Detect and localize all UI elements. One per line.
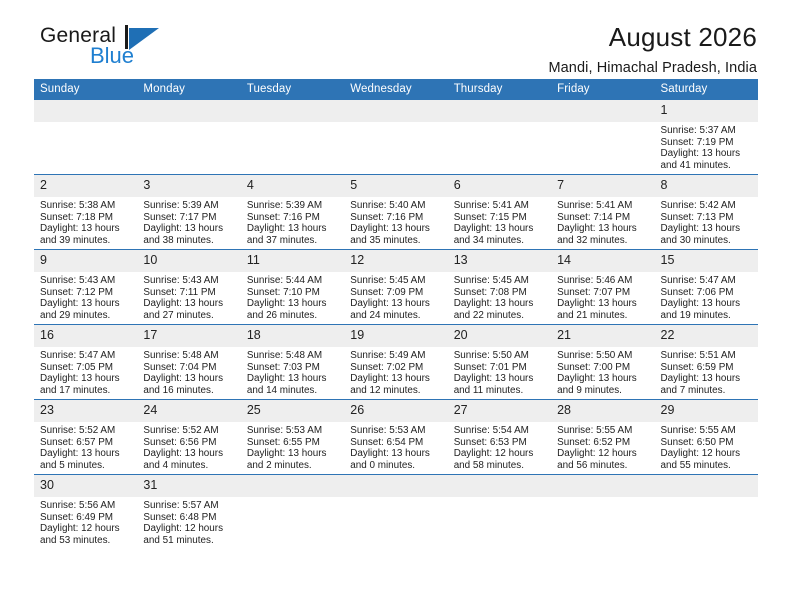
sunrise-time: Sunrise: 5:45 AM [350,275,442,287]
calendar-day-cell-empty [241,100,344,175]
daylight-line-2: and 11 minutes. [454,385,546,397]
daylight-line-2: and 53 minutes. [40,535,132,547]
day-number [344,475,447,497]
daylight-line-2: and 55 minutes. [661,460,753,472]
daylight-line-1: Daylight: 12 hours [557,448,649,460]
calendar-week-row: 23Sunrise: 5:52 AMSunset: 6:57 PMDayligh… [34,400,758,475]
day-details: Sunrise: 5:46 AMSunset: 7:07 PMDaylight:… [551,272,654,321]
sunset-time: Sunset: 7:08 PM [454,287,546,299]
calendar-day-cell-empty [344,100,447,175]
day-number [655,475,758,497]
logo-text-blue: Blue [90,43,134,69]
sunrise-time: Sunrise: 5:42 AM [661,200,753,212]
page-title: August 2026 [548,22,757,52]
day-details: Sunrise: 5:51 AMSunset: 6:59 PMDaylight:… [655,347,758,396]
daylight-line-1: Daylight: 12 hours [143,523,235,535]
sunset-time: Sunset: 7:13 PM [661,212,753,224]
day-number: 19 [344,325,447,347]
calendar-day-cell[interactable]: 14Sunrise: 5:46 AMSunset: 7:07 PMDayligh… [551,250,654,325]
day-number [344,100,447,122]
daylight-line-1: Daylight: 13 hours [350,223,442,235]
day-details: Sunrise: 5:50 AMSunset: 7:01 PMDaylight:… [448,347,551,396]
daylight-line-2: and 37 minutes. [247,235,339,247]
day-details: Sunrise: 5:52 AMSunset: 6:56 PMDaylight:… [137,422,240,471]
sunrise-time: Sunrise: 5:54 AM [454,425,546,437]
day-number [34,100,137,122]
daylight-line-1: Daylight: 13 hours [40,448,132,460]
calendar-week-row: 30Sunrise: 5:56 AMSunset: 6:49 PMDayligh… [34,475,758,550]
sunset-time: Sunset: 7:07 PM [557,287,649,299]
day-number [241,100,344,122]
calendar-day-cell-empty [344,475,447,550]
daylight-line-1: Daylight: 13 hours [557,298,649,310]
calendar-day-cell[interactable]: 8Sunrise: 5:42 AMSunset: 7:13 PMDaylight… [655,175,758,250]
sunrise-time: Sunrise: 5:44 AM [247,275,339,287]
calendar-day-cell[interactable]: 24Sunrise: 5:52 AMSunset: 6:56 PMDayligh… [137,400,240,475]
daylight-line-1: Daylight: 13 hours [40,223,132,235]
daylight-line-1: Daylight: 13 hours [40,298,132,310]
daylight-line-2: and 7 minutes. [661,385,753,397]
daylight-line-2: and 12 minutes. [350,385,442,397]
daylight-line-2: and 21 minutes. [557,310,649,322]
daylight-line-2: and 35 minutes. [350,235,442,247]
daylight-line-1: Daylight: 13 hours [661,373,753,385]
daylight-line-2: and 38 minutes. [143,235,235,247]
calendar-day-cell[interactable]: 6Sunrise: 5:41 AMSunset: 7:15 PMDaylight… [448,175,551,250]
sunrise-time: Sunrise: 5:55 AM [557,425,649,437]
daylight-line-2: and 22 minutes. [454,310,546,322]
day-details: Sunrise: 5:42 AMSunset: 7:13 PMDaylight:… [655,197,758,246]
weekday-header-thursday: Thursday [448,79,551,100]
day-details: Sunrise: 5:54 AMSunset: 6:53 PMDaylight:… [448,422,551,471]
sunset-time: Sunset: 7:05 PM [40,362,132,374]
sunset-time: Sunset: 6:49 PM [40,512,132,524]
sunset-time: Sunset: 7:14 PM [557,212,649,224]
day-number [448,475,551,497]
daylight-line-2: and 4 minutes. [143,460,235,472]
weekday-header-sunday: Sunday [34,79,137,100]
daylight-line-2: and 39 minutes. [40,235,132,247]
sunset-time: Sunset: 7:16 PM [350,212,442,224]
calendar-day-cell[interactable]: 10Sunrise: 5:43 AMSunset: 7:11 PMDayligh… [137,250,240,325]
day-number: 20 [448,325,551,347]
page-subtitle: Mandi, Himachal Pradesh, India [548,58,757,78]
day-number: 30 [34,475,137,497]
day-number: 29 [655,400,758,422]
day-details: Sunrise: 5:48 AMSunset: 7:03 PMDaylight:… [241,347,344,396]
sunrise-time: Sunrise: 5:41 AM [454,200,546,212]
day-number: 21 [551,325,654,347]
daylight-line-1: Daylight: 13 hours [247,298,339,310]
day-number: 17 [137,325,240,347]
day-details: Sunrise: 5:45 AMSunset: 7:09 PMDaylight:… [344,272,447,321]
sunset-time: Sunset: 7:15 PM [454,212,546,224]
daylight-line-1: Daylight: 13 hours [143,223,235,235]
day-number [551,100,654,122]
calendar-day-cell-empty [137,100,240,175]
day-number: 2 [34,175,137,197]
day-number: 22 [655,325,758,347]
day-details: Sunrise: 5:48 AMSunset: 7:04 PMDaylight:… [137,347,240,396]
daylight-line-1: Daylight: 13 hours [557,223,649,235]
calendar-day-cell[interactable]: 12Sunrise: 5:45 AMSunset: 7:09 PMDayligh… [344,250,447,325]
sunset-time: Sunset: 6:54 PM [350,437,442,449]
sunrise-time: Sunrise: 5:40 AM [350,200,442,212]
daylight-line-1: Daylight: 13 hours [557,373,649,385]
calendar-day-cell[interactable]: 18Sunrise: 5:48 AMSunset: 7:03 PMDayligh… [241,325,344,400]
calendar-day-cell[interactable]: 22Sunrise: 5:51 AMSunset: 6:59 PMDayligh… [655,325,758,400]
day-number [137,100,240,122]
sunset-time: Sunset: 7:10 PM [247,287,339,299]
sunrise-time: Sunrise: 5:49 AM [350,350,442,362]
sunset-time: Sunset: 7:03 PM [247,362,339,374]
calendar-day-cell[interactable]: 4Sunrise: 5:39 AMSunset: 7:16 PMDaylight… [241,175,344,250]
weekday-header-friday: Friday [551,79,654,100]
day-details: Sunrise: 5:52 AMSunset: 6:57 PMDaylight:… [34,422,137,471]
daylight-line-1: Daylight: 13 hours [143,373,235,385]
sunset-time: Sunset: 6:50 PM [661,437,753,449]
day-details: Sunrise: 5:44 AMSunset: 7:10 PMDaylight:… [241,272,344,321]
sunset-time: Sunset: 7:16 PM [247,212,339,224]
day-details: Sunrise: 5:43 AMSunset: 7:12 PMDaylight:… [34,272,137,321]
daylight-line-2: and 2 minutes. [247,460,339,472]
day-number: 18 [241,325,344,347]
calendar-day-cell[interactable]: 27Sunrise: 5:54 AMSunset: 6:53 PMDayligh… [448,400,551,475]
sunset-time: Sunset: 6:55 PM [247,437,339,449]
daylight-line-2: and 24 minutes. [350,310,442,322]
day-details: Sunrise: 5:39 AMSunset: 7:16 PMDaylight:… [241,197,344,246]
day-number: 15 [655,250,758,272]
daylight-line-2: and 5 minutes. [40,460,132,472]
day-number [241,475,344,497]
sunset-time: Sunset: 7:00 PM [557,362,649,374]
sunset-time: Sunset: 7:02 PM [350,362,442,374]
sunrise-time: Sunrise: 5:41 AM [557,200,649,212]
sunrise-time: Sunrise: 5:37 AM [661,125,753,137]
day-details: Sunrise: 5:56 AMSunset: 6:49 PMDaylight:… [34,497,137,546]
calendar-day-cell[interactable]: 29Sunrise: 5:55 AMSunset: 6:50 PMDayligh… [655,400,758,475]
day-number: 6 [448,175,551,197]
calendar-day-cell[interactable]: 13Sunrise: 5:45 AMSunset: 7:08 PMDayligh… [448,250,551,325]
daylight-line-1: Daylight: 13 hours [143,448,235,460]
calendar-week-row: 2Sunrise: 5:38 AMSunset: 7:18 PMDaylight… [34,175,758,250]
day-details: Sunrise: 5:49 AMSunset: 7:02 PMDaylight:… [344,347,447,396]
sunrise-time: Sunrise: 5:46 AM [557,275,649,287]
sunset-time: Sunset: 7:04 PM [143,362,235,374]
day-number: 10 [137,250,240,272]
daylight-line-2: and 27 minutes. [143,310,235,322]
calendar-day-cell[interactable]: 15Sunrise: 5:47 AMSunset: 7:06 PMDayligh… [655,250,758,325]
sunrise-time: Sunrise: 5:50 AM [557,350,649,362]
daylight-line-2: and 32 minutes. [557,235,649,247]
day-number: 31 [137,475,240,497]
daylight-line-1: Daylight: 13 hours [247,373,339,385]
daylight-line-1: Daylight: 13 hours [247,448,339,460]
daylight-line-1: Daylight: 12 hours [454,448,546,460]
daylight-line-1: Daylight: 13 hours [247,223,339,235]
sunrise-time: Sunrise: 5:39 AM [247,200,339,212]
calendar-day-cell[interactable]: 5Sunrise: 5:40 AMSunset: 7:16 PMDaylight… [344,175,447,250]
day-number: 26 [344,400,447,422]
sunset-time: Sunset: 6:57 PM [40,437,132,449]
daylight-line-2: and 9 minutes. [557,385,649,397]
sunrise-time: Sunrise: 5:48 AM [143,350,235,362]
day-number: 12 [344,250,447,272]
day-number: 25 [241,400,344,422]
calendar-week-row: 9Sunrise: 5:43 AMSunset: 7:12 PMDaylight… [34,250,758,325]
calendar-day-cell[interactable]: 2Sunrise: 5:38 AMSunset: 7:18 PMDaylight… [34,175,137,250]
sunrise-time: Sunrise: 5:39 AM [143,200,235,212]
calendar-day-cell[interactable]: 25Sunrise: 5:53 AMSunset: 6:55 PMDayligh… [241,400,344,475]
daylight-line-2: and 29 minutes. [40,310,132,322]
calendar-table: Sunday Monday Tuesday Wednesday Thursday… [34,79,758,549]
daylight-line-2: and 14 minutes. [247,385,339,397]
daylight-line-1: Daylight: 13 hours [40,373,132,385]
day-number [448,100,551,122]
weekday-header-monday: Monday [137,79,240,100]
sunset-time: Sunset: 6:59 PM [661,362,753,374]
sunrise-time: Sunrise: 5:38 AM [40,200,132,212]
sunrise-time: Sunrise: 5:53 AM [247,425,339,437]
sunset-time: Sunset: 7:11 PM [143,287,235,299]
day-number: 16 [34,325,137,347]
sunrise-time: Sunrise: 5:45 AM [454,275,546,287]
daylight-line-1: Daylight: 13 hours [454,298,546,310]
daylight-line-1: Daylight: 13 hours [454,373,546,385]
day-number: 9 [34,250,137,272]
daylight-line-2: and 16 minutes. [143,385,235,397]
daylight-line-1: Daylight: 13 hours [661,298,753,310]
daylight-line-1: Daylight: 13 hours [454,223,546,235]
daylight-line-1: Daylight: 13 hours [143,298,235,310]
daylight-line-2: and 51 minutes. [143,535,235,547]
day-details: Sunrise: 5:53 AMSunset: 6:54 PMDaylight:… [344,422,447,471]
day-details: Sunrise: 5:55 AMSunset: 6:50 PMDaylight:… [655,422,758,471]
day-details: Sunrise: 5:39 AMSunset: 7:17 PMDaylight:… [137,197,240,246]
calendar-day-cell[interactable]: 17Sunrise: 5:48 AMSunset: 7:04 PMDayligh… [137,325,240,400]
daylight-line-2: and 19 minutes. [661,310,753,322]
day-number: 8 [655,175,758,197]
day-details: Sunrise: 5:57 AMSunset: 6:48 PMDaylight:… [137,497,240,546]
page-header: General Blue August 2026 Mandi, Himachal… [34,0,758,74]
sunrise-time: Sunrise: 5:51 AM [661,350,753,362]
day-number [551,475,654,497]
day-details: Sunrise: 5:41 AMSunset: 7:14 PMDaylight:… [551,197,654,246]
general-blue-logo[interactable]: General Blue [34,22,214,74]
day-details: Sunrise: 5:43 AMSunset: 7:11 PMDaylight:… [137,272,240,321]
calendar-day-cell[interactable]: 11Sunrise: 5:44 AMSunset: 7:10 PMDayligh… [241,250,344,325]
day-details: Sunrise: 5:47 AMSunset: 7:05 PMDaylight:… [34,347,137,396]
calendar-day-cell-empty [241,475,344,550]
sunset-time: Sunset: 7:01 PM [454,362,546,374]
day-details: Sunrise: 5:41 AMSunset: 7:15 PMDaylight:… [448,197,551,246]
sunrise-time: Sunrise: 5:52 AM [40,425,132,437]
calendar-day-cell[interactable]: 23Sunrise: 5:52 AMSunset: 6:57 PMDayligh… [34,400,137,475]
sunset-time: Sunset: 6:53 PM [454,437,546,449]
calendar-day-cell[interactable]: 3Sunrise: 5:39 AMSunset: 7:17 PMDaylight… [137,175,240,250]
day-number: 14 [551,250,654,272]
daylight-line-2: and 30 minutes. [661,235,753,247]
calendar-day-cell[interactable]: 9Sunrise: 5:43 AMSunset: 7:12 PMDaylight… [34,250,137,325]
daylight-line-2: and 17 minutes. [40,385,132,397]
day-number: 11 [241,250,344,272]
calendar-day-cell[interactable]: 31Sunrise: 5:57 AMSunset: 6:48 PMDayligh… [137,475,240,550]
day-details: Sunrise: 5:50 AMSunset: 7:00 PMDaylight:… [551,347,654,396]
day-number: 28 [551,400,654,422]
calendar-week-row: 16Sunrise: 5:47 AMSunset: 7:05 PMDayligh… [34,325,758,400]
title-block: August 2026 Mandi, Himachal Pradesh, Ind… [548,22,758,78]
sunrise-time: Sunrise: 5:43 AM [40,275,132,287]
daylight-line-1: Daylight: 12 hours [40,523,132,535]
sunset-time: Sunset: 7:18 PM [40,212,132,224]
calendar-day-cell[interactable]: 28Sunrise: 5:55 AMSunset: 6:52 PMDayligh… [551,400,654,475]
day-details: Sunrise: 5:38 AMSunset: 7:18 PMDaylight:… [34,197,137,246]
daylight-line-1: Daylight: 12 hours [661,448,753,460]
calendar-day-cell[interactable]: 7Sunrise: 5:41 AMSunset: 7:14 PMDaylight… [551,175,654,250]
weekday-header-wednesday: Wednesday [344,79,447,100]
daylight-line-2: and 0 minutes. [350,460,442,472]
daylight-line-2: and 41 minutes. [661,160,753,172]
sunset-time: Sunset: 7:17 PM [143,212,235,224]
daylight-line-2: and 58 minutes. [454,460,546,472]
day-details: Sunrise: 5:55 AMSunset: 6:52 PMDaylight:… [551,422,654,471]
sunrise-time: Sunrise: 5:56 AM [40,500,132,512]
daylight-line-1: Daylight: 13 hours [661,223,753,235]
sunset-time: Sunset: 7:09 PM [350,287,442,299]
calendar-day-cell[interactable]: 21Sunrise: 5:50 AMSunset: 7:00 PMDayligh… [551,325,654,400]
sunset-time: Sunset: 7:12 PM [40,287,132,299]
calendar-day-cell[interactable]: 16Sunrise: 5:47 AMSunset: 7:05 PMDayligh… [34,325,137,400]
calendar-day-cell[interactable]: 20Sunrise: 5:50 AMSunset: 7:01 PMDayligh… [448,325,551,400]
sunrise-time: Sunrise: 5:55 AM [661,425,753,437]
daylight-line-2: and 56 minutes. [557,460,649,472]
sunrise-time: Sunrise: 5:47 AM [40,350,132,362]
day-details: Sunrise: 5:45 AMSunset: 7:08 PMDaylight:… [448,272,551,321]
calendar-day-cell[interactable]: 30Sunrise: 5:56 AMSunset: 6:49 PMDayligh… [34,475,137,550]
sunrise-time: Sunrise: 5:48 AM [247,350,339,362]
sunrise-time: Sunrise: 5:57 AM [143,500,235,512]
sunrise-time: Sunrise: 5:53 AM [350,425,442,437]
calendar-day-cell-empty [655,475,758,550]
weekday-header-tuesday: Tuesday [241,79,344,100]
sunset-time: Sunset: 6:56 PM [143,437,235,449]
daylight-line-1: Daylight: 13 hours [350,298,442,310]
day-number: 23 [34,400,137,422]
sunset-time: Sunset: 7:19 PM [661,137,753,149]
calendar-header-row: Sunday Monday Tuesday Wednesday Thursday… [34,79,758,100]
calendar-day-cell[interactable]: 1Sunrise: 5:37 AMSunset: 7:19 PMDaylight… [655,100,758,175]
calendar-day-cell-empty [34,100,137,175]
calendar-day-cell[interactable]: 26Sunrise: 5:53 AMSunset: 6:54 PMDayligh… [344,400,447,475]
sunset-time: Sunset: 6:52 PM [557,437,649,449]
calendar-day-cell-empty [551,100,654,175]
day-number: 4 [241,175,344,197]
weekday-header-saturday: Saturday [655,79,758,100]
sunrise-time: Sunrise: 5:47 AM [661,275,753,287]
calendar-day-cell-empty [551,475,654,550]
day-number: 1 [655,100,758,122]
day-details: Sunrise: 5:37 AMSunset: 7:19 PMDaylight:… [655,122,758,171]
daylight-line-1: Daylight: 13 hours [661,148,753,160]
day-number: 27 [448,400,551,422]
day-number: 13 [448,250,551,272]
calendar-day-cell-empty [448,100,551,175]
sunrise-time: Sunrise: 5:43 AM [143,275,235,287]
calendar-day-cell[interactable]: 19Sunrise: 5:49 AMSunset: 7:02 PMDayligh… [344,325,447,400]
calendar-page: General Blue August 2026 Mandi, Himachal… [0,0,792,612]
daylight-line-1: Daylight: 13 hours [350,373,442,385]
day-number: 3 [137,175,240,197]
calendar-body: 1Sunrise: 5:37 AMSunset: 7:19 PMDaylight… [34,100,758,549]
daylight-line-1: Daylight: 13 hours [350,448,442,460]
day-details: Sunrise: 5:47 AMSunset: 7:06 PMDaylight:… [655,272,758,321]
day-number: 7 [551,175,654,197]
day-number: 5 [344,175,447,197]
calendar-day-cell-empty [448,475,551,550]
sunset-time: Sunset: 7:06 PM [661,287,753,299]
sunrise-time: Sunrise: 5:50 AM [454,350,546,362]
daylight-line-2: and 34 minutes. [454,235,546,247]
day-number: 24 [137,400,240,422]
sunset-time: Sunset: 6:48 PM [143,512,235,524]
day-details: Sunrise: 5:53 AMSunset: 6:55 PMDaylight:… [241,422,344,471]
calendar-week-row: 1Sunrise: 5:37 AMSunset: 7:19 PMDaylight… [34,100,758,175]
daylight-line-2: and 26 minutes. [247,310,339,322]
day-details: Sunrise: 5:40 AMSunset: 7:16 PMDaylight:… [344,197,447,246]
sunrise-time: Sunrise: 5:52 AM [143,425,235,437]
